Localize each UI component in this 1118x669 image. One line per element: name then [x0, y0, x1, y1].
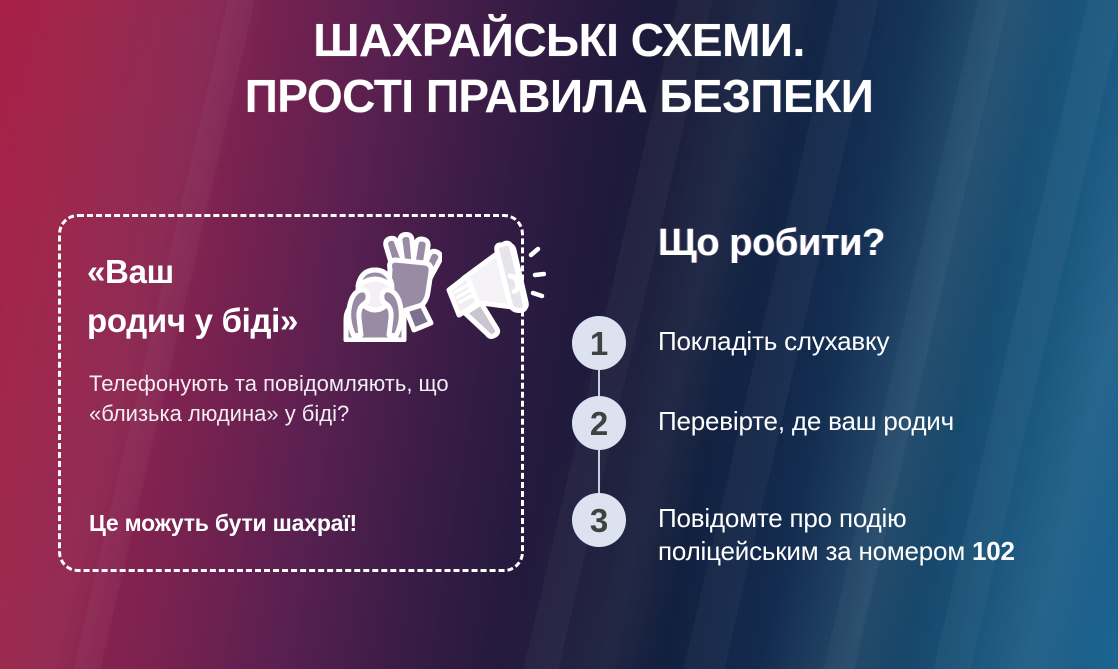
step-text-1: Покладіть слухавку: [658, 316, 889, 358]
step-item-2[interactable]: 2 Перевірте, де ваш родич: [572, 396, 1072, 493]
step-item-1[interactable]: 1 Покладіть слухавку: [572, 316, 1072, 396]
title-line-1: ШАХРАЙСЬКІ СХЕМИ.: [0, 12, 1118, 68]
emergency-phone-number: 102: [972, 536, 1015, 566]
scheme-card-warning: Це можуть бути шахраї!: [89, 510, 357, 537]
scheme-card-title: «Ваш родич у біді»: [87, 247, 387, 345]
step-item-3[interactable]: 3 Повідомте про подію поліцейським за но…: [572, 493, 1072, 563]
step-number-badge-2: 2: [572, 396, 626, 450]
infographic-poster: ШАХРАЙСЬКІ СХЕМИ. ПРОСТІ ПРАВИЛА БЕЗПЕКИ…: [0, 0, 1118, 669]
poster-title: ШАХРАЙСЬКІ СХЕМИ. ПРОСТІ ПРАВИЛА БЕЗПЕКИ: [0, 12, 1118, 124]
step-connector-1-2: [598, 370, 600, 397]
steps-heading: Що робити?: [658, 222, 885, 265]
step-text-3-body: Повідомте про подію поліцейським за номе…: [658, 503, 972, 566]
step-number-badge-3: 3: [572, 493, 626, 547]
steps-list: 1 Покладіть слухавку 2 Перевірте, де ваш…: [572, 316, 1072, 563]
scheme-card: «Ваш родич у біді» Телефонують та повідо…: [58, 214, 524, 572]
scheme-card-title-line-1: «Ваш: [87, 247, 387, 296]
title-line-2: ПРОСТІ ПРАВИЛА БЕЗПЕКИ: [0, 68, 1118, 124]
scheme-card-body: Телефонують та повідомляють, що «близька…: [89, 369, 461, 428]
step-text-2: Перевірте, де ваш родич: [658, 396, 954, 438]
scheme-card-title-line-2: родич у біді»: [87, 296, 387, 345]
step-text-3: Повідомте про подію поліцейським за номе…: [658, 493, 1072, 568]
step-number-badge-1: 1: [572, 316, 626, 370]
